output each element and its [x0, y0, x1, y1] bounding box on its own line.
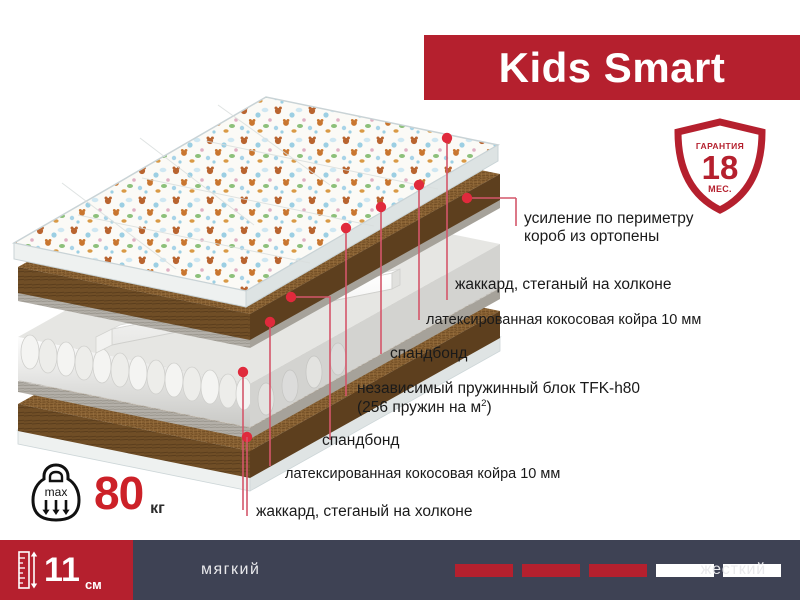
- label-spring-count: (256 пружин на м2): [357, 398, 640, 417]
- page-title: Kids Smart: [499, 47, 726, 89]
- warranty-value: 18: [702, 151, 739, 184]
- label-perimeter-reinforcement: усиление по периметру короб из ортопены: [524, 210, 693, 247]
- firmness-block: мягкий жесткий: [133, 540, 800, 600]
- label-coir-top: латексированная кокосовая койра 10 мм: [426, 312, 701, 329]
- label-jacquard-bottom: жаккард, стеганый на холконе: [256, 503, 472, 521]
- label-spunbond-bottom: спандбонд: [322, 432, 399, 450]
- bottom-bar: 11 см мягкий жесткий: [0, 540, 800, 600]
- warranty-bottom-label: МЕС.: [708, 185, 732, 194]
- firmness-soft-label: мягкий: [201, 561, 260, 579]
- label-coir-bottom: латексированная кокосовая койра 10 мм: [285, 466, 560, 483]
- product-title-banner: Kids Smart: [424, 35, 800, 100]
- firmness-segment-3: [589, 564, 647, 577]
- label-spring-block: независимый пружинный блок TFK-h80 (256 …: [357, 380, 640, 418]
- warranty-badge: ГАРАНТИЯ 18 МЕС.: [672, 118, 768, 214]
- label-spunbond-top: спандбонд: [390, 345, 467, 363]
- height-unit: см: [85, 577, 102, 592]
- label-jacquard-top: жаккард, стеганый на холконе: [455, 276, 671, 294]
- ruler-icon: [18, 550, 38, 590]
- height-block: 11 см: [0, 540, 133, 600]
- max-load-block: max 80 кг: [30, 462, 165, 524]
- mattress-cutaway-illustration: [0, 75, 520, 505]
- firmness-segment-1: [455, 564, 513, 577]
- product-infographic: Kids Smart ГАРАНТИЯ 18 МЕС. усиление по …: [0, 0, 800, 600]
- kettlebell-icon: max: [30, 462, 82, 524]
- height-value: 11: [44, 553, 80, 587]
- max-load-value: 80: [94, 470, 143, 516]
- firmness-segment-2: [522, 564, 580, 577]
- max-load-icon-label: max: [45, 485, 68, 499]
- max-load-unit: кг: [150, 500, 165, 518]
- firmness-hard-label: жесткий: [701, 561, 766, 579]
